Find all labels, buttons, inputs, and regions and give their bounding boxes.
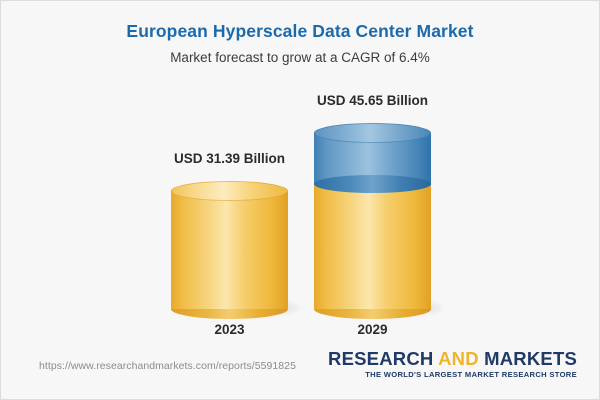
chart-subtitle: Market forecast to grow at a CAGR of 6.4… [1,50,599,65]
source-url[interactable]: https://www.researchandmarkets.com/repor… [39,360,296,372]
bar-2029[interactable]: USD 45.65 Billion 2029 [314,123,431,309]
brand-wordmark: RESEARCH AND MARKETS [328,349,577,368]
brand-word-markets: MARKETS [484,348,577,369]
brand-word-and: AND [438,348,479,369]
cylinder-top-cap [171,181,288,201]
cylinder-2023 [171,181,288,309]
bar-value-label-2029: USD 45.65 Billion [317,93,428,108]
chart-footer: https://www.researchandmarkets.com/repor… [1,343,599,399]
category-label-2029: 2029 [357,322,387,337]
chart-card: European Hyperscale Data Center Market M… [0,0,600,400]
bar-value-label-2023: USD 31.39 Billion [174,151,285,166]
category-label-2023: 2023 [214,322,244,337]
brand-word-research: RESEARCH [328,348,433,369]
cylinder-2029 [314,123,431,309]
cylinder-body-base [171,191,288,309]
chart-title: European Hyperscale Data Center Market [1,21,599,42]
plot-area: USD 31.39 Billion 2023 USD 45.65 Billion [1,71,599,341]
cylinder-top-cap [314,123,431,143]
cylinder-body-base [314,181,431,309]
brand-tagline: THE WORLD'S LARGEST MARKET RESEARCH STOR… [328,370,577,379]
bar-2023[interactable]: USD 31.39 Billion 2023 [171,181,288,309]
brand-logo: RESEARCH AND MARKETS THE WORLD'S LARGEST… [328,349,577,379]
cylinder-growth-bottom-cap [314,175,431,193]
